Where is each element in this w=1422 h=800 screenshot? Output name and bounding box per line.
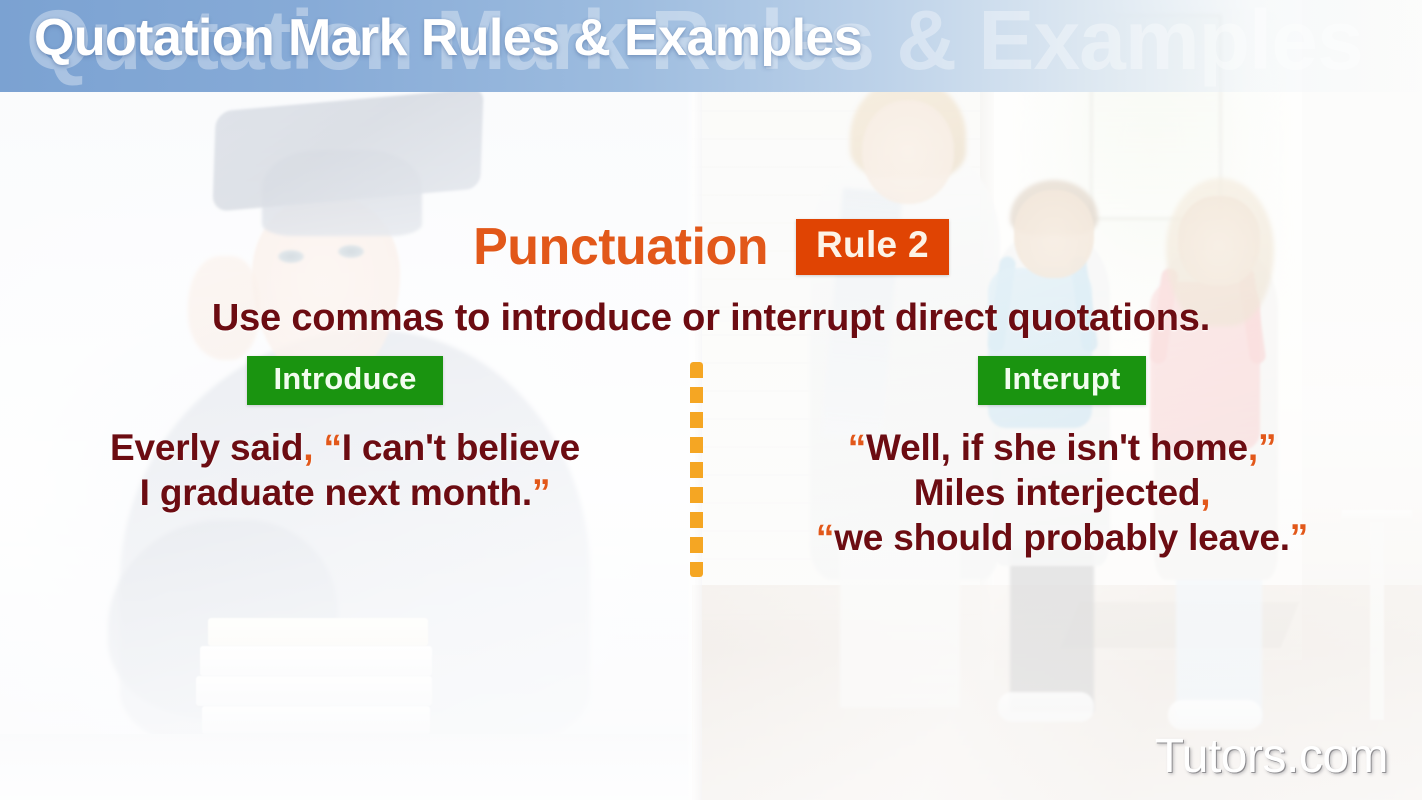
rule-number-badge: Rule 2	[796, 219, 949, 275]
example-introduce-line-2: I graduate next month.”	[12, 470, 678, 515]
rule-statement: Use commas to introduce or interrupt dir…	[0, 297, 1422, 340]
open-quote-mark: “	[816, 517, 834, 558]
comma-highlight: ,	[303, 427, 313, 468]
tutors-logo: Tutors.com	[1155, 729, 1388, 784]
example-introduce: Everly said, “I can't believe I graduate…	[0, 425, 690, 515]
example-interrupt-line-1: “Well, if she isn't home,”	[714, 425, 1410, 470]
example-attribution: Miles interjected	[914, 472, 1201, 513]
close-quote-mark: ”	[1290, 517, 1308, 558]
slide-content: Punctuation Rule 2 Use commas to introdu…	[0, 92, 1422, 800]
title-banner: Quotation Mark Rules & Examples Quotatio…	[0, 0, 1422, 92]
page-title: Quotation Mark Rules & Examples	[34, 8, 862, 68]
example-quote-part-1: I can't believe	[342, 427, 580, 468]
example-quote-part-2: I graduate next month.	[140, 472, 532, 513]
tag-introduce: Introduce	[247, 356, 442, 405]
open-quote-mark: “	[848, 427, 866, 468]
slide-root: Quotation Mark Rules & Examples Quotatio…	[0, 0, 1422, 800]
example-interrupt-line-3: “we should probably leave.”	[714, 515, 1410, 560]
comma-highlight: ,	[1200, 472, 1210, 513]
example-interrupt: “Well, if she isn't home,” Miles interje…	[702, 425, 1422, 560]
topic-label: Punctuation	[473, 217, 768, 277]
close-quote-mark: ”	[532, 472, 550, 513]
column-introduce: Introduce Everly said, “I can't believe …	[0, 356, 690, 515]
example-quote-part-2: we should probably leave.	[834, 517, 1290, 558]
comma-highlight: ,	[1248, 427, 1258, 468]
open-quote-mark: “	[323, 427, 341, 468]
topic-row: Punctuation Rule 2	[0, 217, 1422, 277]
tag-interrupt: Interupt	[978, 356, 1147, 405]
example-introduce-line-1: Everly said, “I can't believe	[12, 425, 678, 470]
example-quote-part-1: Well, if she isn't home	[866, 427, 1248, 468]
close-quote-mark: ”	[1258, 427, 1276, 468]
example-interrupt-line-2: Miles interjected,	[714, 470, 1410, 515]
column-interrupt: Interupt “Well, if she isn't home,” Mile…	[702, 356, 1422, 560]
example-text-pre: Everly said	[110, 427, 303, 468]
